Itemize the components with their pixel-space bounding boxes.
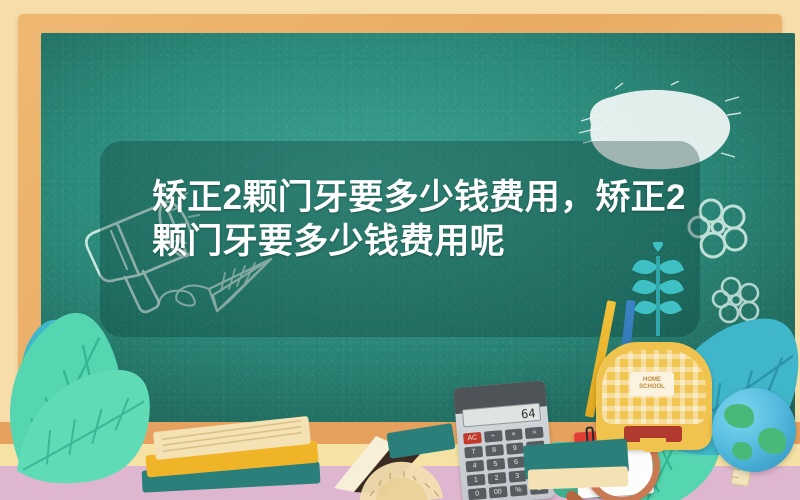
book-stack bbox=[136, 404, 336, 496]
calculator-key: 5 bbox=[486, 458, 505, 471]
backpack-tag: HOME SCHOOL bbox=[630, 372, 674, 396]
calculator-key: ÷ bbox=[484, 430, 503, 443]
globe-landmass bbox=[724, 404, 754, 428]
calculator-key: 1 bbox=[467, 474, 486, 487]
backpack-buckle bbox=[640, 438, 666, 452]
globe-icon bbox=[712, 388, 796, 472]
calculator-key: 8 bbox=[485, 444, 504, 457]
calculator-key: × bbox=[504, 428, 523, 441]
calculator-key: 4 bbox=[465, 460, 484, 473]
calculator-key: AC bbox=[463, 432, 482, 445]
banner-canvas: 矫正2颗门牙要多少钱费用，矫正2颗门牙要多少钱费用呢 bbox=[0, 0, 800, 500]
calculator-key: 2 bbox=[487, 472, 506, 485]
calculator-key: 0 bbox=[468, 488, 487, 500]
book-teal bbox=[522, 434, 632, 494]
calculator-key: 7 bbox=[464, 446, 483, 459]
globe-landmass bbox=[758, 428, 786, 454]
calculator-key: 00 bbox=[489, 486, 508, 499]
globe-landmass bbox=[732, 442, 752, 460]
